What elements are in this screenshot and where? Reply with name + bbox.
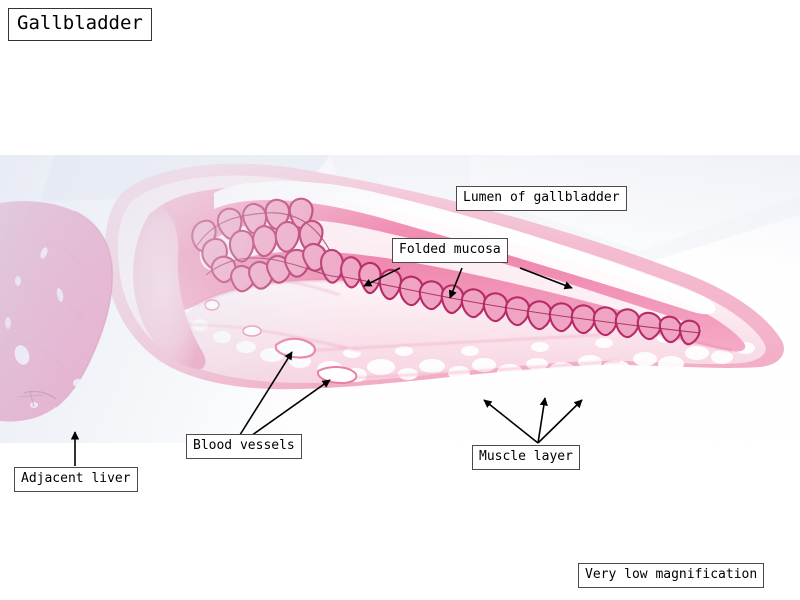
label-muscle-layer: Muscle layer — [472, 445, 580, 470]
label-magnification: Very low magnification — [578, 563, 764, 588]
page-title: Gallbladder — [8, 8, 152, 41]
label-lumen-of-gallbladder: Lumen of gallbladder — [456, 186, 627, 211]
label-folded-mucosa: Folded mucosa — [392, 238, 508, 263]
slide-page: Gallbladder Lumen of gallbladder Folded … — [0, 0, 800, 600]
label-adjacent-liver: Adjacent liver — [14, 467, 138, 492]
histology-photomicrograph — [0, 155, 800, 443]
slide-glass-tint — [0, 155, 800, 443]
label-blood-vessels: Blood vessels — [186, 434, 302, 459]
